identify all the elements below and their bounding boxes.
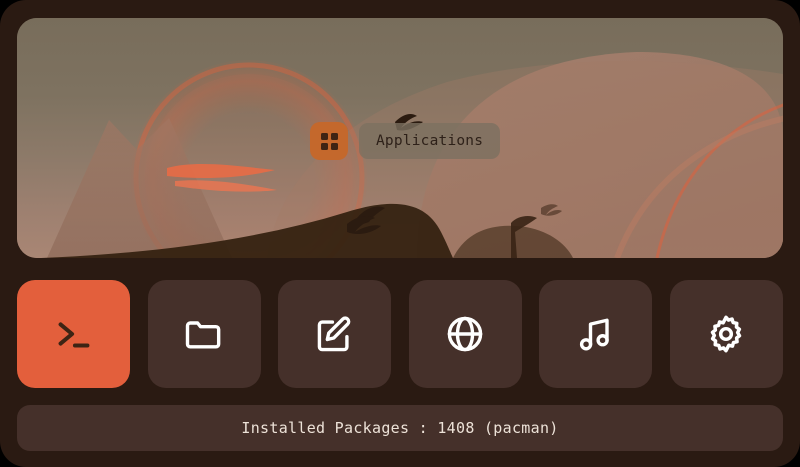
dock-item-music[interactable] bbox=[539, 280, 652, 388]
application-dock bbox=[17, 280, 783, 388]
dock-item-web-browser[interactable] bbox=[409, 280, 522, 388]
grid-2x2-icon bbox=[321, 133, 338, 150]
status-bar: Installed Packages : 1408 (pacman) bbox=[17, 405, 783, 451]
folder-icon bbox=[182, 312, 226, 356]
dock-item-settings[interactable] bbox=[670, 280, 783, 388]
applications-label: Applications bbox=[376, 133, 483, 149]
music-note-icon bbox=[574, 312, 618, 356]
applications-launcher[interactable]: Applications bbox=[310, 122, 500, 160]
dock-item-terminal[interactable] bbox=[17, 280, 130, 388]
dock-item-files[interactable] bbox=[148, 280, 261, 388]
dock-item-text-editor[interactable] bbox=[278, 280, 391, 388]
gear-icon bbox=[704, 312, 748, 356]
globe-icon bbox=[443, 312, 487, 356]
installed-packages-text: Installed Packages : 1408 (pacman) bbox=[241, 419, 558, 437]
grid-2x2-icon-button[interactable] bbox=[310, 122, 348, 160]
edit-pencil-square-icon bbox=[313, 312, 357, 356]
desktop-window: Applications bbox=[0, 0, 800, 467]
applications-pill-button[interactable]: Applications bbox=[359, 123, 500, 159]
terminal-icon bbox=[51, 311, 97, 357]
